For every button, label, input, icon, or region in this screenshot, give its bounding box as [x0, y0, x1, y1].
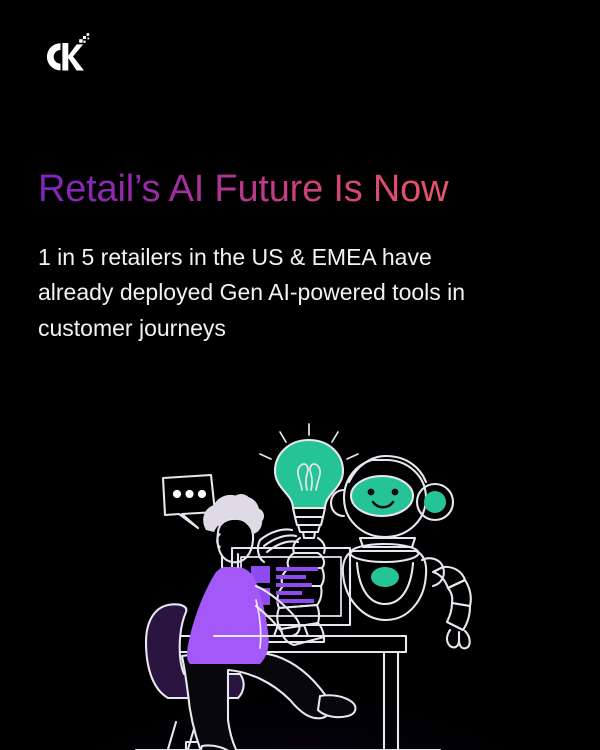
- ck-monogram-logo[interactable]: [36, 30, 90, 80]
- lightbulb-icon: [260, 424, 358, 538]
- page-title: Retail’s AI Future Is Now: [38, 168, 558, 212]
- person: [182, 494, 355, 750]
- page-subtitle: 1 in 5 retailers in the US & EMEA have a…: [38, 240, 498, 346]
- promo-hero-page: Retail’s AI Future Is Now 1 in 5 retaile…: [0, 0, 600, 750]
- robot: [331, 456, 471, 648]
- hero-illustration: [110, 420, 510, 750]
